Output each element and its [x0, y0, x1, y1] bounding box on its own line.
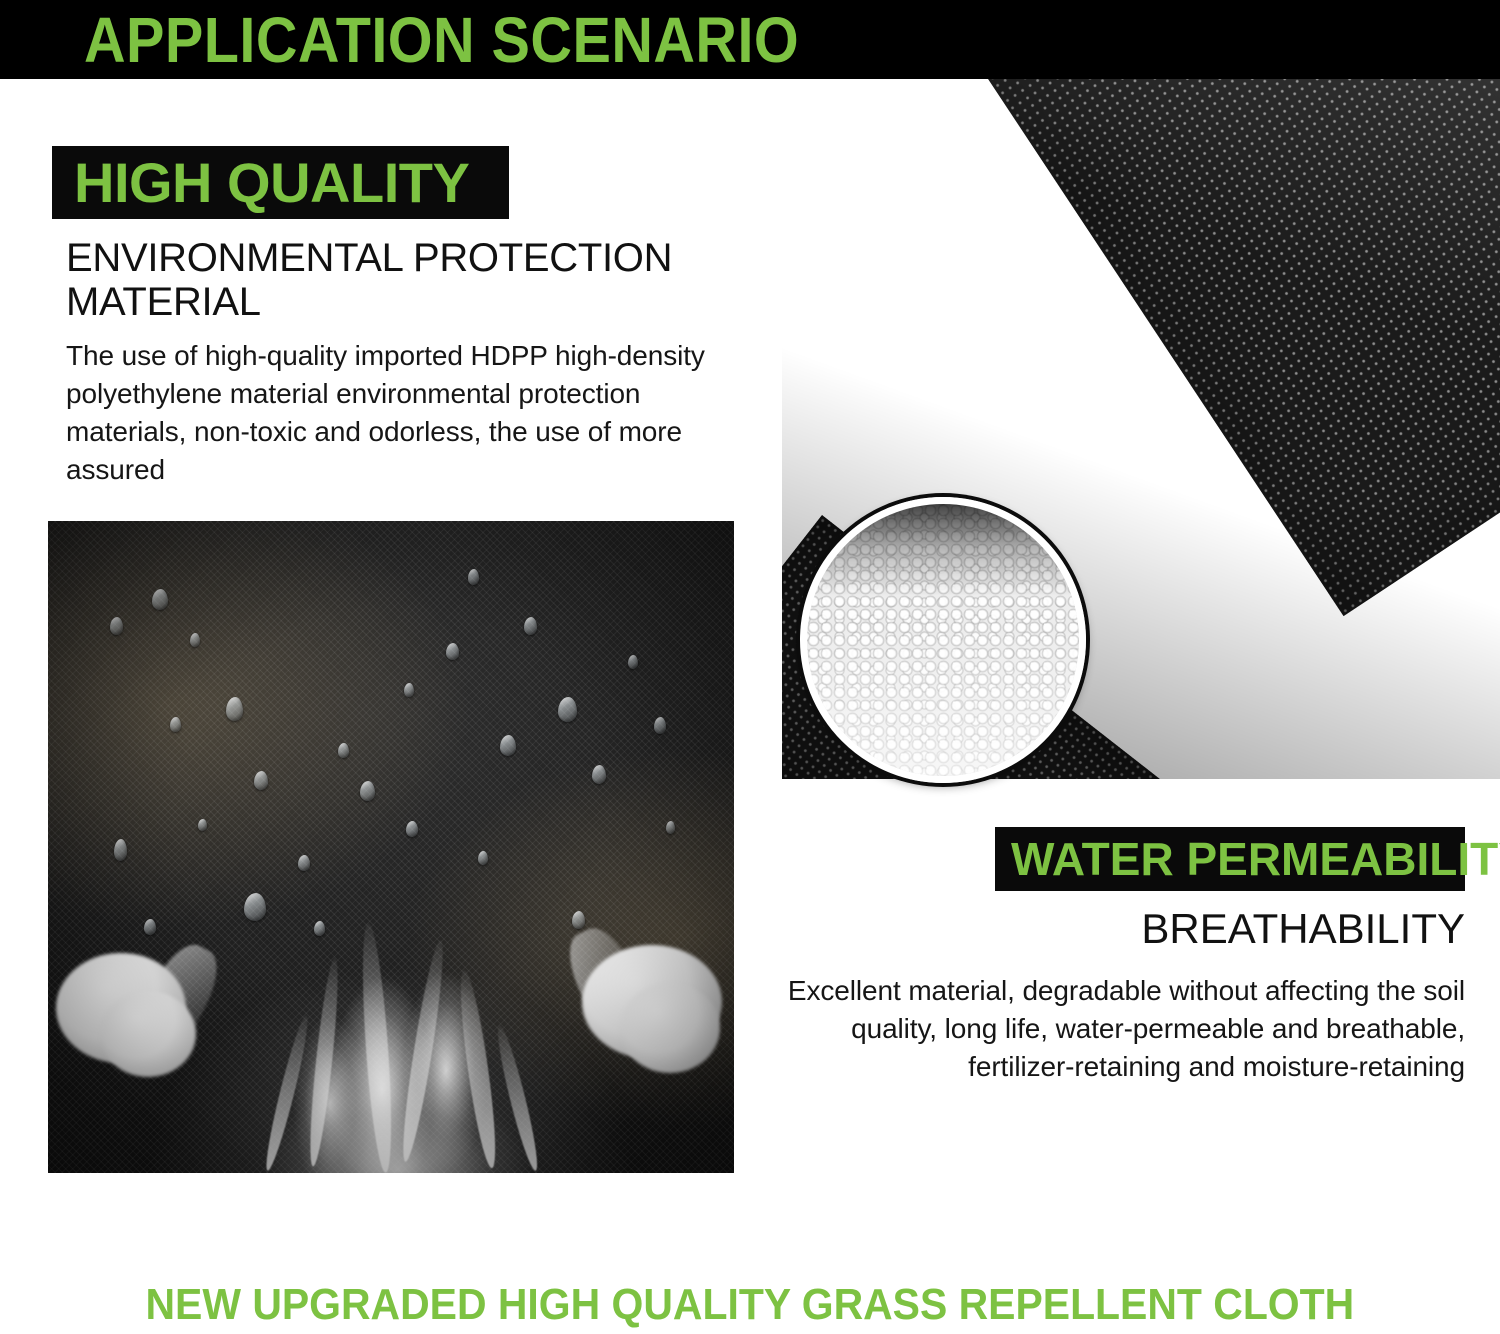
footer-banner: NEW UPGRADED HIGH QUALITY GRASS REPELLEN…	[0, 1281, 1500, 1329]
infographic-page: APPLICATION SCENARIO HIGH QUALITY ENVIRO…	[0, 0, 1500, 1334]
resin-pellets-top-shadow	[807, 504, 1079, 596]
high-quality-badge: HIGH QUALITY	[52, 146, 509, 219]
water-permeability-badge: WATER PERMEABILITY	[995, 827, 1465, 891]
footer-banner-label: NEW UPGRADED HIGH QUALITY GRASS REPELLEN…	[146, 1281, 1355, 1329]
water-permeability-badge-label: WATER PERMEABILITY	[1011, 836, 1500, 882]
splash-photo-vignette	[48, 521, 734, 1173]
water-splash-photo	[48, 521, 734, 1173]
high-quality-badge-label: HIGH QUALITY	[74, 155, 469, 211]
breathability-body: Excellent material, degradable without a…	[785, 972, 1465, 1086]
resin-pellets-highlight	[807, 626, 1079, 776]
environmental-protection-subheading: ENVIRONMENTAL PROTECTION MATERIAL	[66, 236, 706, 324]
page-title: APPLICATION SCENARIO	[84, 5, 799, 75]
resin-pellets-inset	[800, 497, 1086, 783]
header-bar: APPLICATION SCENARIO	[0, 0, 1500, 79]
breathability-subheading: BREATHABILITY	[900, 905, 1465, 953]
environmental-protection-body: The use of high-quality imported HDPP hi…	[66, 337, 766, 489]
